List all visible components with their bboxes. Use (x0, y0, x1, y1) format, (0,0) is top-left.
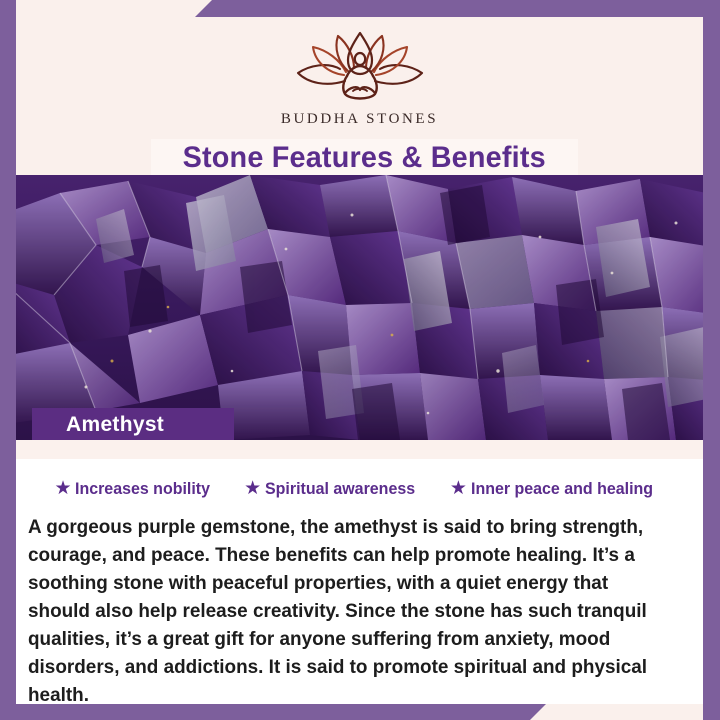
benefit-label: Spiritual awareness (265, 479, 415, 499)
photo-seam (16, 440, 703, 459)
brand-name: BUDDHA STONES (281, 111, 438, 128)
infographic-page: BUDDHA STONES Stone Features & Benefits (0, 0, 720, 720)
page-title-band: Stone Features & Benefits (151, 139, 578, 176)
content-sheet: BUDDHA STONES Stone Features & Benefits (16, 17, 703, 704)
benefit-item-inner-peace-and-healing: ★ Inner peace and healing (450, 479, 665, 499)
decorative-band-top (195, 0, 720, 17)
benefit-item-spiritual-awareness: ★ Spiritual awareness (244, 479, 425, 499)
amethyst-crystal-cluster-photo (16, 175, 703, 440)
benefit-item-increases-nobility: ★ Increases nobility (54, 479, 219, 499)
benefit-label: Increases nobility (75, 479, 210, 499)
hero-image (16, 175, 703, 440)
page-title: Stone Features & Benefits (183, 141, 546, 175)
stone-details-panel: ★ Increases nobility ★ Spiritual awarene… (16, 459, 703, 704)
decorative-edge-right (703, 0, 720, 720)
stone-name: Amethyst (66, 413, 164, 437)
star-icon: ★ (244, 479, 261, 498)
star-icon: ★ (450, 479, 467, 498)
stone-description: A gorgeous purple gemstone, the amethyst… (28, 513, 668, 704)
lotus-meditating-figure-icon (282, 29, 438, 105)
stone-name-tag: Amethyst (32, 408, 234, 441)
star-icon: ★ (54, 479, 71, 498)
page-header: BUDDHA STONES Stone Features & Benefits (16, 17, 703, 175)
brand-logo: BUDDHA STONES (16, 29, 703, 128)
benefit-bullet-list: ★ Increases nobility ★ Spiritual awarene… (16, 479, 703, 499)
decorative-band-bottom (0, 704, 546, 720)
decorative-edge-left (0, 0, 16, 720)
benefit-label: Inner peace and healing (471, 479, 653, 499)
